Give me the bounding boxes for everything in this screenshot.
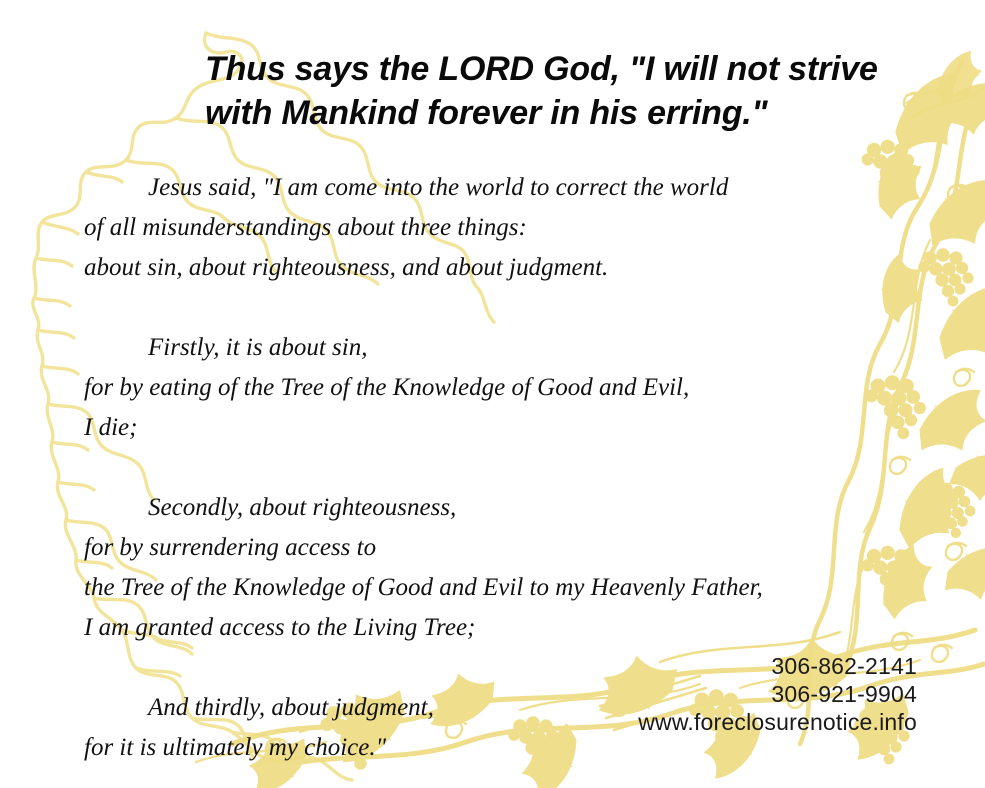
phone-secondary[interactable]: 306-921-9904 [638, 680, 917, 708]
paragraph-intro-line-1: Jesus said, "I am come into the world to… [84, 168, 914, 208]
page-title: Thus says the LORD God, "I will not stri… [205, 48, 945, 134]
contact-info: 306-862-2141 306-921-9904 www.foreclosur… [638, 652, 917, 736]
paragraph-secondly-line-3: the Tree of the Knowledge of Good and Ev… [84, 568, 914, 608]
paragraph-secondly-line-1: Secondly, about righteousness, [84, 488, 914, 528]
paragraph-intro-line-3: about sin, about righteousness, and abou… [84, 248, 914, 288]
paragraph-firstly-line-2: for by eating of the Tree of the Knowled… [84, 368, 914, 408]
website-url[interactable]: www.foreclosurenotice.info [638, 708, 917, 736]
paragraph-firstly-line-3: I die; [84, 408, 914, 448]
text-content: Thus says the LORD God, "I will not stri… [0, 0, 985, 788]
paragraph-intro-line-2: of all misunderstandings about three thi… [84, 208, 914, 248]
paragraph-secondly-line-4: I am granted access to the Living Tree; [84, 608, 914, 648]
page-title-line-2: with Mankind forever in his erring." [205, 92, 945, 134]
paragraph-firstly-line-1: Firstly, it is about sin, [84, 328, 914, 368]
paragraph-secondly-line-2: for by surrendering access to [84, 528, 914, 568]
page-title-line-1: Thus says the LORD God, "I will not stri… [205, 48, 945, 90]
phone-primary[interactable]: 306-862-2141 [638, 652, 917, 680]
paragraph-firstly: Firstly, it is about sin, for by eating … [84, 328, 914, 448]
paragraph-intro: Jesus said, "I am come into the world to… [84, 168, 914, 288]
flyer-page: Thus says the LORD God, "I will not stri… [0, 0, 985, 788]
paragraph-secondly: Secondly, about righteousness, for by su… [84, 488, 914, 648]
